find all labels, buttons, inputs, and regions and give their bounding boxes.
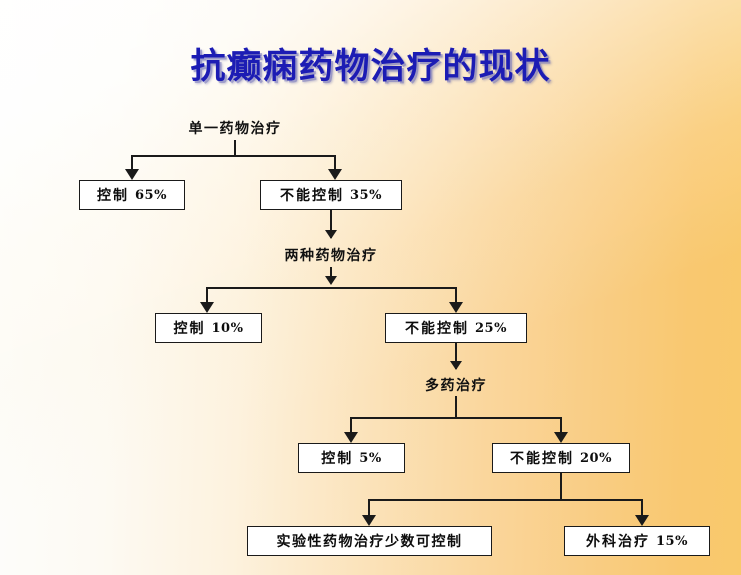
node-controlled-10[interactable]: 控制 10% [155, 313, 262, 343]
connector-stage1-stem [234, 140, 236, 156]
arrow-to-experimental [362, 515, 376, 526]
node-value: 5% [359, 451, 381, 466]
node-value: 15% [656, 534, 688, 549]
connector-final-left-drop [368, 499, 370, 516]
node-uncontrolled-25[interactable]: 不能控制 25% [385, 313, 527, 343]
arrow-to-stage3-label [450, 361, 462, 370]
arrow-to-controlled-65 [125, 169, 139, 180]
connector-stage2-left-drop [206, 287, 208, 303]
arrow-to-stage2-label [325, 230, 337, 239]
stage-label-dual-therapy: 两种药物治疗 [285, 245, 378, 265]
connector-stage3-stem [455, 396, 457, 417]
node-experimental-therapy[interactable]: 实验性药物治疗少数可控制 [247, 526, 492, 556]
stage-label-polytherapy: 多药治疗 [425, 375, 487, 395]
node-uncontrolled-20[interactable]: 不能控制 20% [492, 443, 630, 473]
arrow-to-controlled-10 [200, 302, 214, 313]
arrow-stage2-stem [325, 276, 337, 285]
node-label: 控制 [321, 448, 353, 468]
node-label: 控制 [97, 185, 129, 205]
node-label: 不能控制 [280, 185, 344, 205]
node-controlled-65[interactable]: 控制 65% [79, 180, 185, 210]
node-value: 20% [580, 451, 612, 466]
node-value: 35% [350, 188, 382, 203]
node-controlled-5[interactable]: 控制 5% [298, 443, 405, 473]
arrow-to-uncontrolled-20 [554, 432, 568, 443]
connector-final-right-drop [641, 499, 643, 516]
arrow-to-uncontrolled-35 [328, 169, 342, 180]
connector-stage2-right-drop [455, 287, 457, 303]
connector-final-bar [369, 499, 642, 501]
node-label: 不能控制 [510, 448, 574, 468]
connector-stage1-bar [132, 155, 335, 157]
node-label: 实验性药物治疗少数可控制 [277, 531, 463, 551]
connector-stage3-left-drop [350, 417, 352, 433]
node-label: 不能控制 [405, 318, 469, 338]
node-surgery-15[interactable]: 外科治疗 15% [564, 526, 710, 556]
arrow-to-surgery-15 [635, 515, 649, 526]
node-value: 10% [212, 321, 244, 336]
connector-stage3-right-drop [560, 417, 562, 433]
node-uncontrolled-35[interactable]: 不能控制 35% [260, 180, 402, 210]
node-label: 外科治疗 [586, 531, 650, 551]
page-title: 抗癫痫药物治疗的现状 [0, 38, 741, 89]
connector-stage2-bar [207, 287, 456, 289]
node-label: 控制 [174, 318, 206, 338]
slide-canvas: 抗癫痫药物治疗的现状 单一药物治疗 控制 65% 不能控制 35% 两种药物治疗… [0, 0, 741, 575]
node-value: 65% [135, 188, 167, 203]
connector-stage3-bar [351, 417, 561, 419]
stage-label-monotherapy: 单一药物治疗 [189, 118, 282, 138]
node-value: 25% [475, 321, 507, 336]
connector-uncontrolled20-to-final [560, 473, 562, 500]
arrow-to-controlled-5 [344, 432, 358, 443]
arrow-to-uncontrolled-25 [449, 302, 463, 313]
